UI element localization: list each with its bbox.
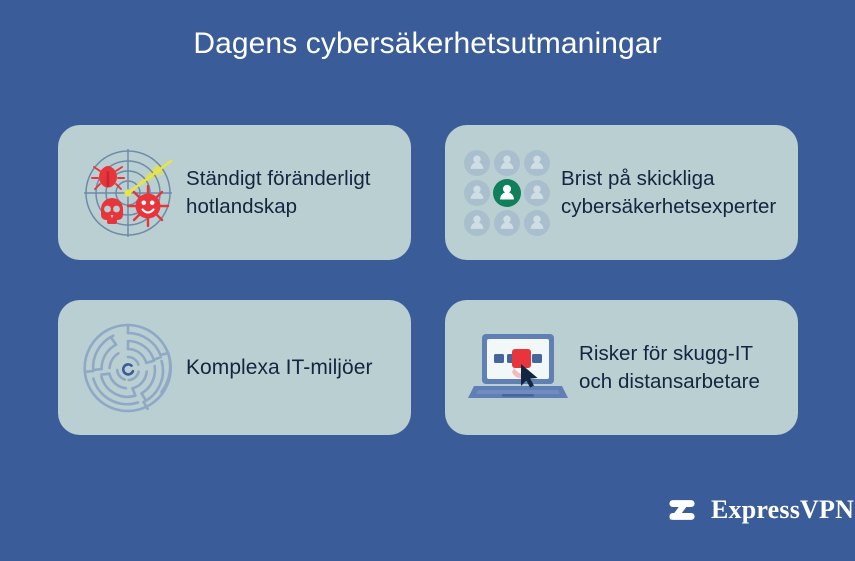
- card-skills-shortage[interactable]: Brist på skickliga cybersäkerhetsexperte…: [445, 125, 798, 260]
- card-complex-it[interactable]: Komplexa IT-miljöer: [58, 300, 411, 435]
- infographic-canvas: Dagens cybersäkerhetsutmaningar: [0, 0, 855, 561]
- logo-wordmark: ExpressVPN: [711, 497, 854, 523]
- card-label: Risker för skugg-IT och distansarbetare: [573, 340, 782, 394]
- card-label: Brist på skickliga cybersäkerhetsexperte…: [555, 165, 782, 219]
- page-title: Dagens cybersäkerhetsutmaningar: [0, 26, 855, 62]
- maze-icon: [76, 320, 180, 416]
- challenge-card-grid: Ständigt föränderligt hotlandskap: [58, 125, 798, 435]
- laptop-cursor-icon: [463, 320, 573, 416]
- card-threat-landscape[interactable]: Ständigt föränderligt hotlandskap: [58, 125, 411, 260]
- people-grid-icon: [459, 145, 555, 241]
- expressvpn-logo: ExpressVPN: [664, 492, 854, 528]
- card-label: Komplexa IT-miljöer: [180, 354, 395, 382]
- highlighted-person: [493, 179, 521, 207]
- expressvpn-e-mark-icon: [664, 492, 700, 528]
- card-label: Ständigt föränderligt hotlandskap: [180, 165, 395, 219]
- card-shadow-it[interactable]: Risker för skugg-IT och distansarbetare: [445, 300, 798, 435]
- radar-threats-icon: [76, 145, 180, 241]
